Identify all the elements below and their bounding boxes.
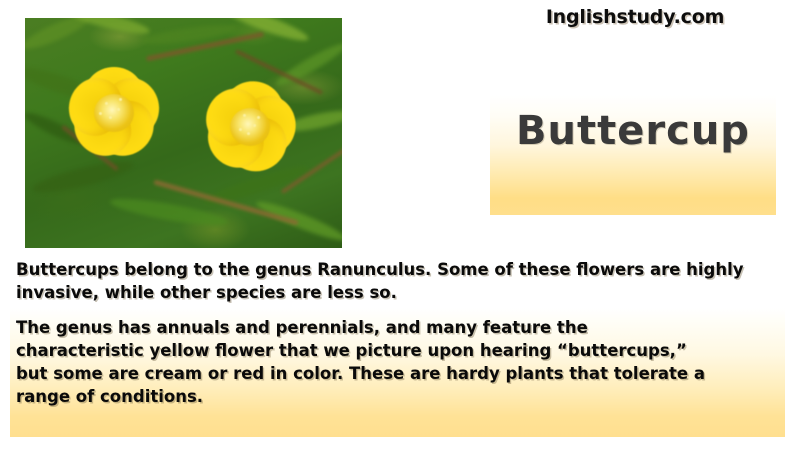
stamen-speck (99, 112, 102, 115)
flower-center (230, 108, 270, 146)
site-brand-label: Inglishstudy.com (480, 6, 790, 28)
stamen-speck (243, 114, 246, 117)
buttercup-flower (55, 54, 173, 172)
stamen-speck (109, 116, 112, 119)
description-text: Buttercups belong to the genus Ranunculu… (16, 258, 788, 408)
stamen-speck (117, 108, 120, 111)
buttercup-photo (25, 18, 342, 248)
stamen-speck (239, 128, 242, 131)
stamen-speck (247, 132, 250, 135)
buttercup-flower (191, 68, 309, 186)
description-paragraph-2: The genus has annuals and perennials, an… (16, 316, 716, 408)
stamen-speck (119, 98, 122, 101)
stamen-speck (253, 124, 256, 127)
stamen-speck (257, 116, 260, 119)
page-title: Buttercup (490, 108, 776, 154)
stamen-speck (105, 102, 108, 105)
description-paragraph-1: Buttercups belong to the genus Ranunculu… (16, 258, 788, 304)
infographic-card: Inglishstudy.com (0, 0, 800, 450)
